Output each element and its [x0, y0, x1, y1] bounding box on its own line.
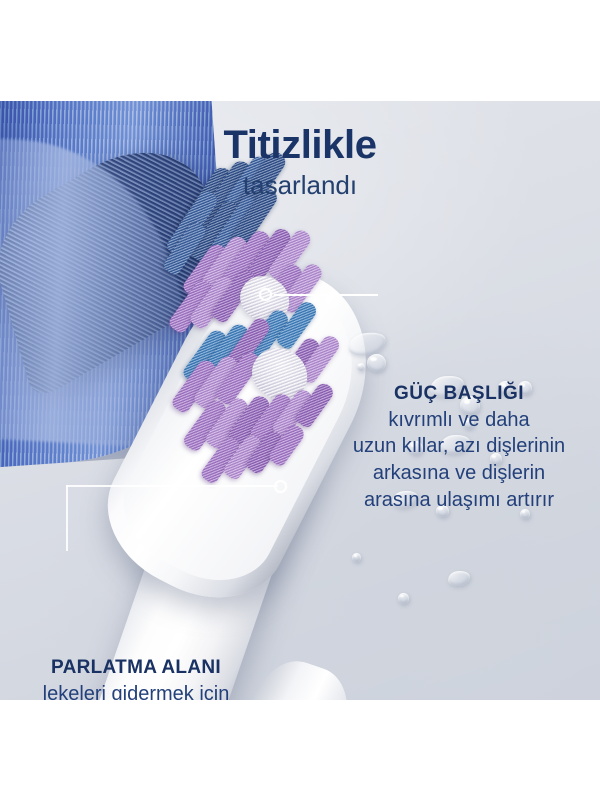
headline-block: Titizlikle tasarlandı: [0, 124, 600, 202]
callout-body-line: arkasına ve dişlerin: [318, 460, 600, 487]
water-droplet: [357, 363, 365, 371]
leader-line-vertical: [66, 485, 68, 551]
callout-power-tip-body: kıvrımlı ve daha uzun kıllar, azı dişler…: [318, 407, 600, 514]
headline-secondary: tasarlandı: [0, 170, 600, 201]
water-droplet: [352, 553, 361, 562]
water-droplet: [398, 593, 409, 604]
callout-polishing-zone-heading: PARLATMA ALANI: [2, 656, 270, 681]
power-tip-marker: [259, 288, 272, 301]
water-droplet: [367, 354, 386, 372]
callout-power-tip-heading: GÜÇ BAŞLIĞI: [318, 382, 600, 407]
callout-body-line: arasına ulaşımı artırır: [318, 487, 600, 514]
infographic-canvas: GÜÇ BAŞLIĞI kıvrımlı ve daha uzun kıllar…: [0, 0, 600, 800]
callout-polishing-zone-body: lekeleri gidermek için nazikçe diş yüzey…: [2, 681, 270, 700]
leader-line-horizontal: [66, 485, 278, 487]
callout-body-line: kıvrımlı ve daha: [318, 407, 600, 434]
callout-power-tip: GÜÇ BAŞLIĞI kıvrımlı ve daha uzun kıllar…: [318, 382, 600, 514]
headline-primary: Titizlikle: [0, 124, 600, 166]
callout-body-line: lekeleri gidermek için: [2, 681, 270, 700]
polishing-zone-marker: [274, 480, 287, 493]
callout-body-line: uzun kıllar, azı dişlerinin: [318, 433, 600, 460]
callout-polishing-zone: PARLATMA ALANI lekeleri gidermek için na…: [2, 656, 270, 700]
leader-line-horizontal: [274, 294, 378, 296]
